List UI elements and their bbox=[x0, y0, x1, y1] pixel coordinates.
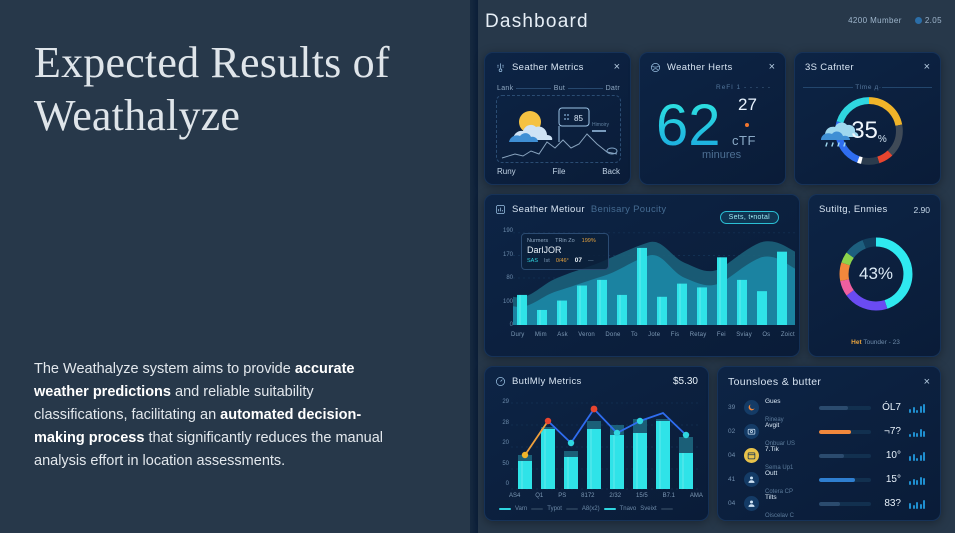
butlmly-amount: $5.30 bbox=[673, 376, 698, 387]
card-weather-herts[interactable]: Weather Herts × ReFl 1 - - - - - 62 27 c… bbox=[639, 52, 786, 185]
card-tounsloes-butter[interactable]: Tounsloes & butter × 39 Gues Rineay ÓL7 … bbox=[717, 366, 941, 521]
row-name: Outt bbox=[765, 470, 777, 477]
card-header: Weather Herts × bbox=[650, 62, 775, 73]
legend-label: A8(x2) bbox=[582, 506, 600, 512]
metiour-y-axis: 190 170 80 100 0 bbox=[491, 228, 513, 328]
legend-swatch bbox=[566, 508, 578, 510]
butlmly-combo-chart bbox=[511, 399, 701, 491]
y-tick: 80 bbox=[506, 275, 513, 281]
row-progress-bar bbox=[819, 454, 871, 458]
tip-f1: SAS bbox=[527, 258, 538, 264]
list-item[interactable]: 04 Tilts Oiscelav C 83? bbox=[728, 493, 932, 514]
legend-label: Tnavo bbox=[620, 506, 637, 512]
tip-f3: 0/46° bbox=[556, 258, 569, 264]
x-tick: Done bbox=[605, 332, 620, 338]
slide-left-panel: Expected Results of Weathalyze The Weath… bbox=[0, 0, 470, 533]
gridlines bbox=[511, 403, 701, 489]
close-icon[interactable]: × bbox=[769, 62, 775, 73]
enmies-right-value: 2.90 bbox=[913, 205, 930, 215]
x-tick: 15/5 bbox=[636, 493, 648, 499]
row-sub: Oiscelav C bbox=[765, 513, 794, 519]
x-tick: Mim bbox=[535, 332, 547, 338]
x-tick: Fis bbox=[671, 332, 680, 338]
x-tick: PS bbox=[558, 493, 566, 499]
card-header: 3S Cafnter × bbox=[805, 62, 930, 73]
tab-datr[interactable]: Datr bbox=[606, 85, 620, 92]
card-header: Tounsloes & butter × bbox=[728, 376, 930, 388]
card-tabs: Lank But Datr bbox=[497, 85, 620, 92]
legend-swatch bbox=[499, 508, 511, 510]
card-title: Weather Herts bbox=[667, 62, 733, 73]
tip-col3: 199% bbox=[582, 238, 596, 244]
y-tick: 29 bbox=[502, 399, 509, 405]
card-title: Tounsloes & butter bbox=[728, 376, 821, 388]
tab-divider bbox=[568, 88, 602, 89]
metiour-badge[interactable]: Sets, t•notal bbox=[720, 211, 779, 224]
accent-dot-icon bbox=[745, 123, 749, 127]
row-name: Tilts bbox=[765, 494, 777, 501]
cafnter-value: 35 bbox=[851, 117, 878, 145]
close-icon[interactable]: × bbox=[924, 62, 930, 73]
legend-label: Typot bbox=[547, 506, 562, 512]
metiour-tooltip: Nurmers TRin Zo 199% DarlJOR SAS Ist 0/4… bbox=[521, 233, 609, 270]
close-icon[interactable]: × bbox=[924, 377, 930, 388]
legend-swatch bbox=[531, 508, 543, 510]
tooltip-row-1: Nurmers TRin Zo 199% bbox=[527, 238, 603, 244]
legend-swatch bbox=[604, 508, 616, 510]
weather-illustration: 85 Himoiry bbox=[497, 96, 621, 163]
temperature-icon bbox=[495, 62, 506, 73]
cafnter-axis-label: Tlme д· bbox=[795, 84, 941, 91]
x-tick: Os bbox=[762, 332, 770, 338]
dashboard-header: Dashboard 4200 Mumber 2.05 bbox=[470, 0, 955, 46]
list-item[interactable]: 02 Avgit Onbuar US ¬7? bbox=[728, 421, 932, 442]
row-sparkbars bbox=[909, 499, 925, 509]
row-name: 7.Tik bbox=[765, 446, 779, 453]
row-index: 04 bbox=[728, 500, 744, 507]
row-value: ¬7? bbox=[871, 426, 901, 437]
version-label: 2.05 bbox=[925, 16, 942, 25]
tip-headline: DarlJOR bbox=[527, 245, 603, 255]
butlmly-legend: Varn Typot A8(x2) Tnavo Sveixt bbox=[499, 506, 699, 512]
camera-icon bbox=[744, 424, 759, 439]
tip-col1: Nurmers bbox=[527, 238, 548, 244]
list-item[interactable]: 39 Gues Rineay ÓL7 bbox=[728, 397, 932, 418]
row-sparkbars bbox=[909, 475, 925, 485]
x-tick: Zoict bbox=[781, 332, 795, 338]
x-tick: Sviay bbox=[736, 332, 752, 338]
row-index: 02 bbox=[728, 428, 744, 435]
butlmly-x-axis: AS4 Q1 PS 8172 2/32 15/5 B7.1 AMA bbox=[509, 493, 703, 499]
x-tick: B7.1 bbox=[663, 493, 675, 499]
body-text-run: The Weathalyze system aims to provide bbox=[34, 361, 295, 377]
user-icon bbox=[744, 472, 759, 487]
calendar-icon bbox=[744, 448, 759, 463]
y-tick: 170 bbox=[503, 252, 513, 258]
card-title: Sutiltg, Enmies bbox=[819, 204, 888, 215]
enmies-footer-bold: Het bbox=[851, 339, 861, 346]
card-title: Seather Metrics bbox=[512, 62, 584, 73]
tooltip-value: 85 bbox=[574, 114, 583, 123]
row-value: ÓL7 bbox=[871, 402, 901, 413]
version-chip[interactable]: 2.05 bbox=[915, 16, 942, 25]
mumber-count: 4200 Mumber bbox=[848, 16, 902, 25]
cafnter-percent-sign: % bbox=[878, 134, 887, 145]
footer-runy[interactable]: Runy bbox=[497, 167, 516, 176]
row-progress-bar bbox=[819, 502, 871, 506]
globe-icon bbox=[650, 62, 661, 73]
card-header: Sutiltg, Enmies 2.90 bbox=[819, 204, 930, 215]
dashboard-meta: 4200 Mumber 2.05 bbox=[848, 16, 942, 25]
x-tick: Dury bbox=[511, 332, 524, 338]
chart-box-icon bbox=[495, 204, 506, 215]
card-subtitle: Benisary Poucity bbox=[591, 204, 667, 215]
card-cafnter[interactable]: 3S Cafnter × Tlme д· 35 bbox=[794, 52, 941, 185]
card-header: Seather Metrics × bbox=[495, 62, 620, 73]
x-tick: AS4 bbox=[509, 493, 520, 499]
x-tick: Ask bbox=[557, 332, 568, 338]
row-index: 39 bbox=[728, 404, 744, 411]
row-value: 83? bbox=[871, 498, 901, 509]
list-item[interactable]: 41 Outt Cotera CP 15° bbox=[728, 469, 932, 490]
card-header: Seather Metiour Benisary Poucity Sets, t… bbox=[495, 204, 789, 215]
close-icon[interactable]: × bbox=[614, 62, 620, 73]
row-value: 10° bbox=[871, 450, 901, 461]
bar-texture bbox=[521, 421, 684, 489]
x-tick: Veron bbox=[578, 332, 595, 338]
dashboard-panel: Dashboard 4200 Mumber 2.05 Seather Metri… bbox=[470, 0, 955, 533]
weather-illustration-frame: 85 Himoiry bbox=[496, 95, 621, 163]
tooltip-row-3: SAS Ist 0/46° 07 — bbox=[527, 257, 603, 264]
tab-lank[interactable]: Lank bbox=[497, 85, 513, 92]
y-tick: 28 bbox=[502, 420, 509, 426]
cafnter-value-wrap: 35 % bbox=[831, 93, 907, 169]
card-title: 3S Cafnter bbox=[805, 62, 854, 73]
body-paragraph: The Weathalyze system aims to provide ac… bbox=[34, 358, 400, 473]
speedometer-icon bbox=[495, 376, 506, 387]
y-tick: 100 bbox=[503, 299, 513, 305]
y-tick: 190 bbox=[503, 228, 513, 234]
herts-value: 62 bbox=[656, 97, 721, 155]
row-sparkbars bbox=[909, 451, 925, 461]
tip-f4: 07 bbox=[575, 257, 582, 264]
x-tick: AMA bbox=[690, 493, 703, 499]
herts-sublabel: minures bbox=[702, 149, 741, 161]
herts-superscript: 27 bbox=[738, 95, 757, 115]
x-tick: Retay bbox=[690, 332, 707, 338]
herts-unit: cTF bbox=[732, 133, 756, 148]
legend-label: Varn bbox=[515, 506, 527, 512]
version-dot-icon bbox=[915, 17, 922, 24]
card-butlmly-metrics[interactable]: ButlMly Metrics $5.30 29 28 20 50 0 bbox=[484, 366, 709, 521]
row-progress-bar bbox=[819, 430, 871, 434]
y-tick: 50 bbox=[502, 461, 509, 467]
card-seather-metrics[interactable]: Seather Metrics × Lank But Datr 85 bbox=[484, 52, 631, 185]
butlmly-y-axis: 29 28 20 50 0 bbox=[491, 399, 509, 487]
page-title: Expected Results of Weathalyze bbox=[34, 36, 434, 142]
y-tick: 0 bbox=[506, 481, 509, 487]
enmies-footer: Het Tounder - 23 bbox=[809, 339, 941, 346]
row-name: Avgit bbox=[765, 422, 779, 429]
tab-but[interactable]: But bbox=[554, 85, 565, 92]
legend-swatch bbox=[661, 508, 673, 510]
row-index: 04 bbox=[728, 452, 744, 459]
card-sutiltg-enmies[interactable]: Sutiltg, Enmies 2.90 43% Het Tounder - 2… bbox=[808, 194, 941, 357]
tooltip-label: Himoiry bbox=[592, 122, 609, 128]
row-progress-bar bbox=[819, 406, 871, 410]
herts-note: ReFl 1 - - - - - bbox=[716, 84, 771, 91]
row-index: 41 bbox=[728, 476, 744, 483]
x-tick: 8172 bbox=[581, 493, 594, 499]
card-title: Seather Metiour bbox=[512, 204, 585, 215]
list-item[interactable]: 04 7.Tik Sema Up1 10° bbox=[728, 445, 932, 466]
row-value: 15° bbox=[871, 474, 901, 485]
card-header: ButlMly Metrics $5.30 bbox=[495, 376, 698, 387]
tab-divider bbox=[516, 88, 550, 89]
row-name: Gues bbox=[765, 398, 781, 405]
moon-icon bbox=[744, 400, 759, 415]
x-tick: Fei bbox=[717, 332, 726, 338]
x-tick: Q1 bbox=[535, 493, 543, 499]
x-tick: To bbox=[631, 332, 638, 338]
card-seather-metiour[interactable]: Seather Metiour Benisary Poucity Sets, t… bbox=[484, 194, 800, 357]
x-tick: Jote bbox=[648, 332, 660, 338]
tip-f5: — bbox=[588, 258, 594, 264]
enmies-footer-rest: Tounder - 23 bbox=[862, 339, 900, 346]
footer-file[interactable]: File bbox=[553, 167, 566, 176]
user-icon bbox=[744, 496, 759, 511]
row-sparkbars bbox=[909, 427, 925, 437]
dashboard-title: Dashboard bbox=[485, 11, 589, 33]
metiour-x-axis: Dury Mim Ask Veron Done To Jote Fis Reta… bbox=[511, 332, 795, 338]
card-footer-actions: Runy File Back bbox=[497, 167, 620, 176]
row-sparkbars bbox=[909, 403, 925, 413]
card-title: ButlMly Metrics bbox=[512, 376, 582, 387]
enmies-center-value: 43% bbox=[835, 233, 917, 315]
tip-f2: Ist bbox=[544, 258, 550, 264]
footer-back[interactable]: Back bbox=[602, 167, 620, 176]
row-progress-bar bbox=[819, 478, 871, 482]
x-tick: 2/32 bbox=[609, 493, 621, 499]
legend-label: Sveixt bbox=[640, 506, 656, 512]
y-tick: 20 bbox=[502, 440, 509, 446]
tip-col2: TRin Zo bbox=[555, 238, 575, 244]
